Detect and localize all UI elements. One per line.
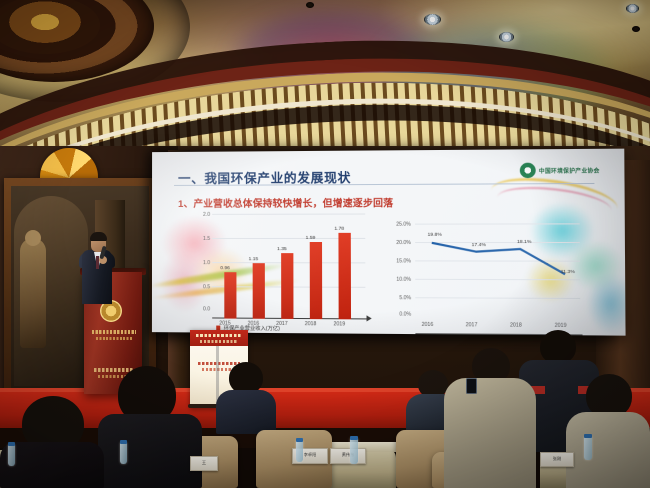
namecard-text: 王 <box>191 460 217 466</box>
banner-text-line <box>200 340 238 343</box>
painting-figure-body <box>20 238 46 348</box>
bottle-cap <box>120 440 127 444</box>
person-torso <box>566 412 650 488</box>
ceiling-downlight <box>626 4 639 13</box>
banner-text-line <box>196 334 242 337</box>
bottle-cap <box>8 442 15 446</box>
person-torso <box>444 378 536 488</box>
ceiling-recess-hole <box>632 26 640 32</box>
ceiling-downlight <box>499 32 514 42</box>
smartphone-icon <box>466 378 477 394</box>
projection-screen: 一、我国环保产业的发展现状 中国环境保护产业协会 1、产业营收总体保持较快增长，… <box>152 149 626 336</box>
banner-text-line <box>198 362 240 365</box>
rollup-banner-header <box>190 330 248 346</box>
table-namecard: 黄伟东 <box>330 448 366 464</box>
water-bottle <box>8 444 15 466</box>
conference-presentation-photo: 一、我国环保产业的发展现状 中国环境保护产业协会 1、产业营收总体保持较快增长，… <box>0 0 650 488</box>
screen-vignette <box>152 149 626 336</box>
table-namecard: 王 <box>190 456 218 471</box>
bottle-cap <box>584 434 592 438</box>
speaker-hair <box>90 232 107 241</box>
podium-text-line <box>96 337 132 340</box>
bottle-cap <box>296 438 303 442</box>
person-torso <box>0 442 104 488</box>
painting-figure-head <box>25 230 41 246</box>
water-bottle <box>120 442 127 464</box>
person-torso <box>216 390 276 434</box>
ceiling-recess-hole <box>306 2 314 8</box>
water-bottle <box>584 436 592 460</box>
namecard-text: 黄伟东 <box>331 452 365 458</box>
ceiling-downlight <box>424 14 441 25</box>
namecard-text: 张刚 <box>541 456 573 462</box>
water-bottle <box>296 440 303 462</box>
podium-text-line <box>92 330 136 334</box>
table-namecard: 张刚 <box>540 452 574 467</box>
water-bottle <box>350 438 358 464</box>
person-torso <box>98 414 202 488</box>
bottle-cap <box>350 436 358 440</box>
person-head <box>540 330 576 364</box>
